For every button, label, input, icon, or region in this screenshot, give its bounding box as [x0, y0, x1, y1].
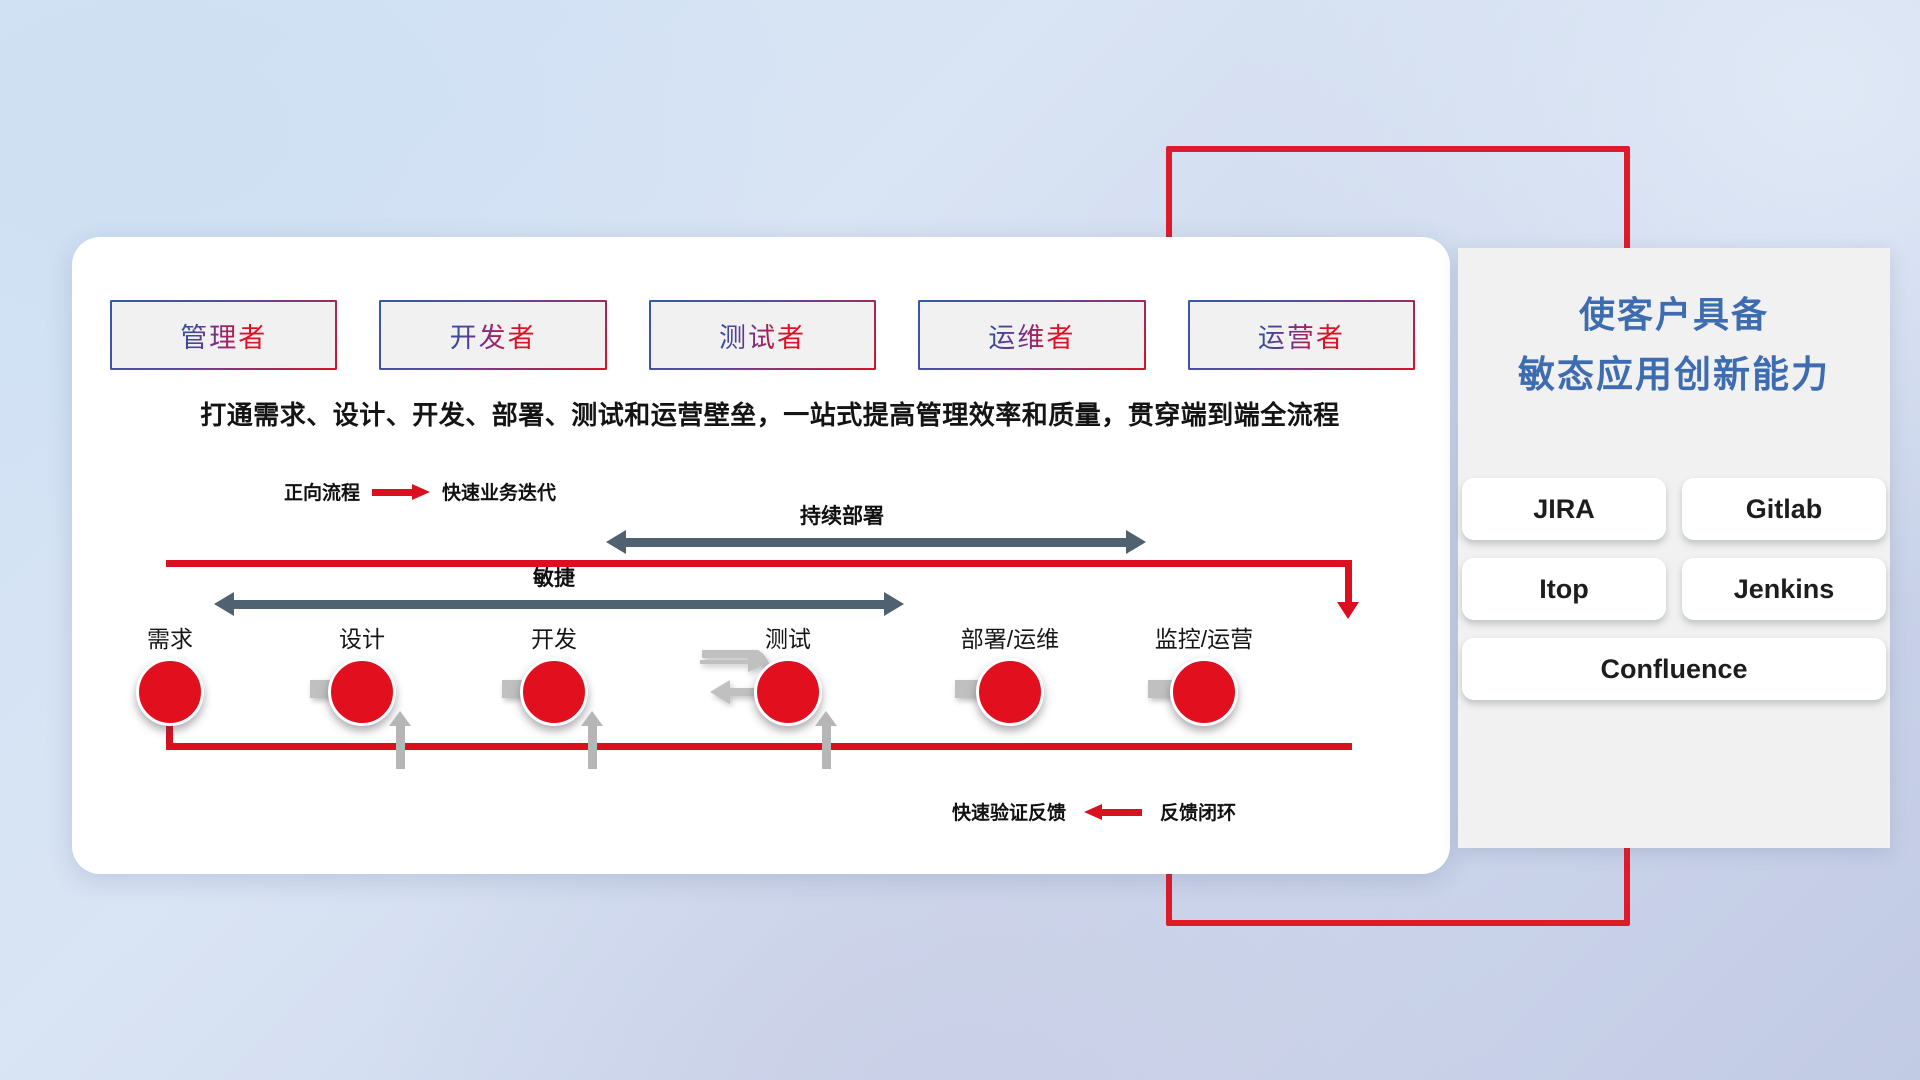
node-stem-test-icon	[822, 725, 831, 769]
role-box-row: 管理者 开发者 测试者 运维者 运营者	[110, 300, 1415, 370]
role-label: 开发者	[450, 316, 537, 355]
legend-forward-right-label: 快速业务迭代	[442, 478, 556, 505]
tool-chip-gitlab[interactable]: Gitlab	[1682, 478, 1886, 540]
node-label: 需求	[110, 620, 230, 654]
role-box-operations[interactable]: 运营者	[1188, 300, 1415, 370]
node-label: 部署/运维	[950, 620, 1070, 654]
node-dot	[520, 658, 588, 726]
role-label: 运维者	[988, 316, 1075, 355]
legend-feedback-left-label: 快速验证反馈	[952, 798, 1066, 825]
role-label: 管理者	[180, 316, 267, 355]
tool-chip-jira[interactable]: JIRA	[1462, 478, 1666, 540]
pipeline-node-monitor-operations[interactable]: 监控/运营	[1144, 620, 1264, 726]
role-box-ops[interactable]: 运维者	[918, 300, 1145, 370]
role-box-tester[interactable]: 测试者	[649, 300, 876, 370]
arrow-right-red-icon	[372, 484, 430, 500]
tool-chip-confluence[interactable]: Confluence	[1462, 638, 1886, 700]
arrow-left-red-icon	[1084, 804, 1142, 820]
pipeline-node-requirement[interactable]: 需求	[110, 620, 230, 726]
role-box-manager[interactable]: 管理者	[110, 300, 337, 370]
role-label: 运营者	[1258, 316, 1345, 355]
slide-canvas: 管理者 开发者 测试者 运维者 运营者 打通需求、设计、开发、部署、测试和运营壁…	[0, 0, 1920, 1080]
tool-chip-jenkins[interactable]: Jenkins	[1682, 558, 1886, 620]
node-dot	[754, 658, 822, 726]
pipeline-node-deploy-ops[interactable]: 部署/运维	[950, 620, 1070, 726]
node-label: 开发	[494, 620, 614, 654]
tool-chip-itop[interactable]: Itop	[1462, 558, 1666, 620]
legend-forward-flow: 正向流程 快速业务迭代	[284, 478, 556, 505]
node-stem-development-icon	[588, 725, 597, 769]
span-label-continuous-deployment: 持续部署	[800, 500, 884, 530]
node-label: 监控/运营	[1144, 620, 1264, 654]
description-text: 打通需求、设计、开发、部署、测试和运营壁垒，一站式提高管理效率和质量，贯穿端到端…	[120, 395, 1420, 432]
pipeline-node-row: 需求 设计 开发 测试 部署/运维 监控/运营	[110, 620, 1420, 740]
node-dot	[136, 658, 204, 726]
legend-forward-left-label: 正向流程	[284, 478, 360, 505]
tool-chip-list: JIRA Gitlab Itop Jenkins Confluence	[1462, 478, 1886, 700]
legend-feedback-right-label: 反馈闭环	[1160, 798, 1236, 825]
panel-title-line2: 敏态应用创新能力	[1458, 345, 1890, 405]
node-dot	[328, 658, 396, 726]
panel-title: 使客户具备 敏态应用创新能力	[1458, 285, 1890, 405]
node-label: 测试	[728, 620, 848, 654]
node-dot	[976, 658, 1044, 726]
node-label: 设计	[302, 620, 422, 654]
double-arrow-continuous-deployment	[606, 530, 1146, 554]
legend-feedback-loop: 快速验证反馈 反馈闭环	[952, 798, 1236, 825]
role-box-developer[interactable]: 开发者	[379, 300, 606, 370]
role-label: 测试者	[719, 316, 806, 355]
node-dot	[1170, 658, 1238, 726]
node-stem-design-icon	[396, 725, 405, 769]
panel-title-line1: 使客户具备	[1458, 285, 1890, 345]
